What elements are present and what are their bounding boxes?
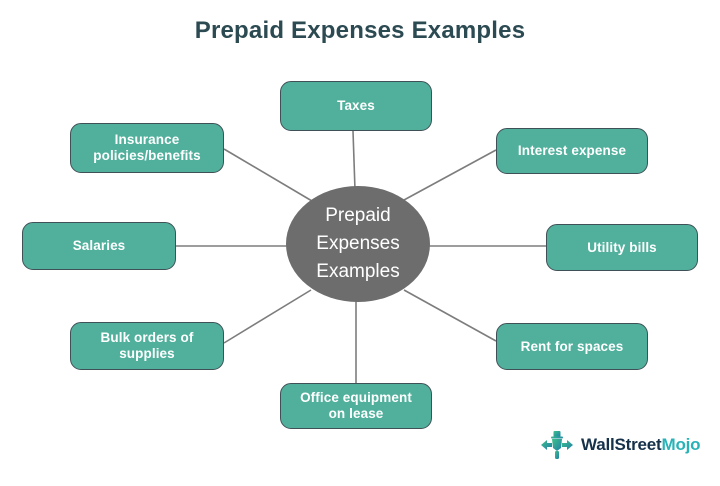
diagram-canvas: Prepaid Expenses Examples Prepaid Expens… — [0, 0, 720, 486]
node-interest-expense[interactable]: Interest expense — [496, 128, 648, 174]
node-taxes-line-1: Taxes — [337, 98, 375, 114]
brand-name-primary: WallStreet — [581, 435, 662, 454]
node-bulk-orders-line-2: supplies — [101, 346, 194, 362]
node-bulk-orders[interactable]: Bulk orders of supplies — [70, 322, 224, 370]
node-rent-line-1: Rent for spaces — [521, 339, 624, 355]
brand-wordmark: WallStreetMojo — [581, 435, 700, 455]
node-salaries-line-1: Salaries — [73, 238, 126, 254]
connector-insurance — [224, 149, 312, 201]
node-utility-bills[interactable]: Utility bills — [546, 224, 698, 271]
node-salaries[interactable]: Salaries — [22, 222, 176, 270]
connector-interest-expense — [404, 150, 496, 200]
node-insurance-line-1: Insurance — [93, 132, 200, 148]
brand-logo[interactable]: WallStreetMojo — [540, 428, 700, 462]
node-taxes[interactable]: Taxes — [280, 81, 432, 131]
node-utility-bills-line-1: Utility bills — [587, 240, 657, 256]
center-line-2: Expenses — [316, 230, 399, 258]
node-office-equipment-line-1: Office equipment — [300, 390, 412, 406]
node-bulk-orders-line-1: Bulk orders of — [101, 330, 194, 346]
connector-bulk-orders — [224, 290, 311, 343]
center-line-3: Examples — [316, 258, 399, 286]
connector-taxes — [353, 131, 355, 190]
brand-name-accent: Mojo — [662, 435, 701, 454]
bull-with-tophat-logo-icon — [540, 428, 574, 462]
node-insurance-line-2: policies/benefits — [93, 148, 200, 164]
node-rent[interactable]: Rent for spaces — [496, 323, 648, 370]
center-line-1: Prepaid — [316, 202, 399, 230]
center-node[interactable]: Prepaid Expenses Examples — [286, 186, 430, 302]
node-interest-expense-line-1: Interest expense — [518, 143, 626, 159]
node-office-equipment[interactable]: Office equipment on lease — [280, 383, 432, 429]
connector-rent — [404, 290, 496, 341]
node-insurance[interactable]: Insurance policies/benefits — [70, 123, 224, 173]
node-office-equipment-line-2: on lease — [300, 406, 412, 422]
